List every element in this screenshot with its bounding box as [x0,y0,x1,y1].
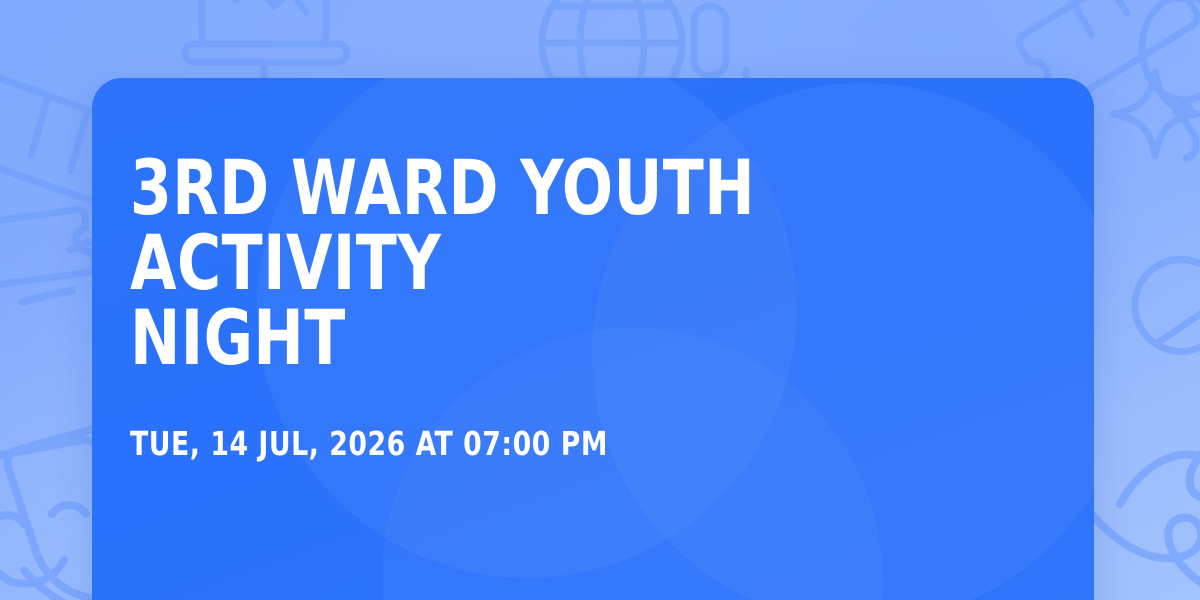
event-banner: 3RD WARD YOUTH ACTIVITY NIGHT TUE, 14 JU… [0,0,1200,600]
confetti-streamer-icon [1110,384,1200,524]
event-title: 3RD WARD YOUTH ACTIVITY NIGHT [130,150,799,376]
balloon-icon [1124,0,1200,160]
event-card-content: 3RD WARD YOUTH ACTIVITY NIGHT TUE, 14 JU… [130,150,1054,463]
event-date: TUE, 14 JUL, 2026 AT 07:00 PM [130,424,962,463]
event-card[interactable]: 3RD WARD YOUTH ACTIVITY NIGHT TUE, 14 JU… [92,78,1094,600]
